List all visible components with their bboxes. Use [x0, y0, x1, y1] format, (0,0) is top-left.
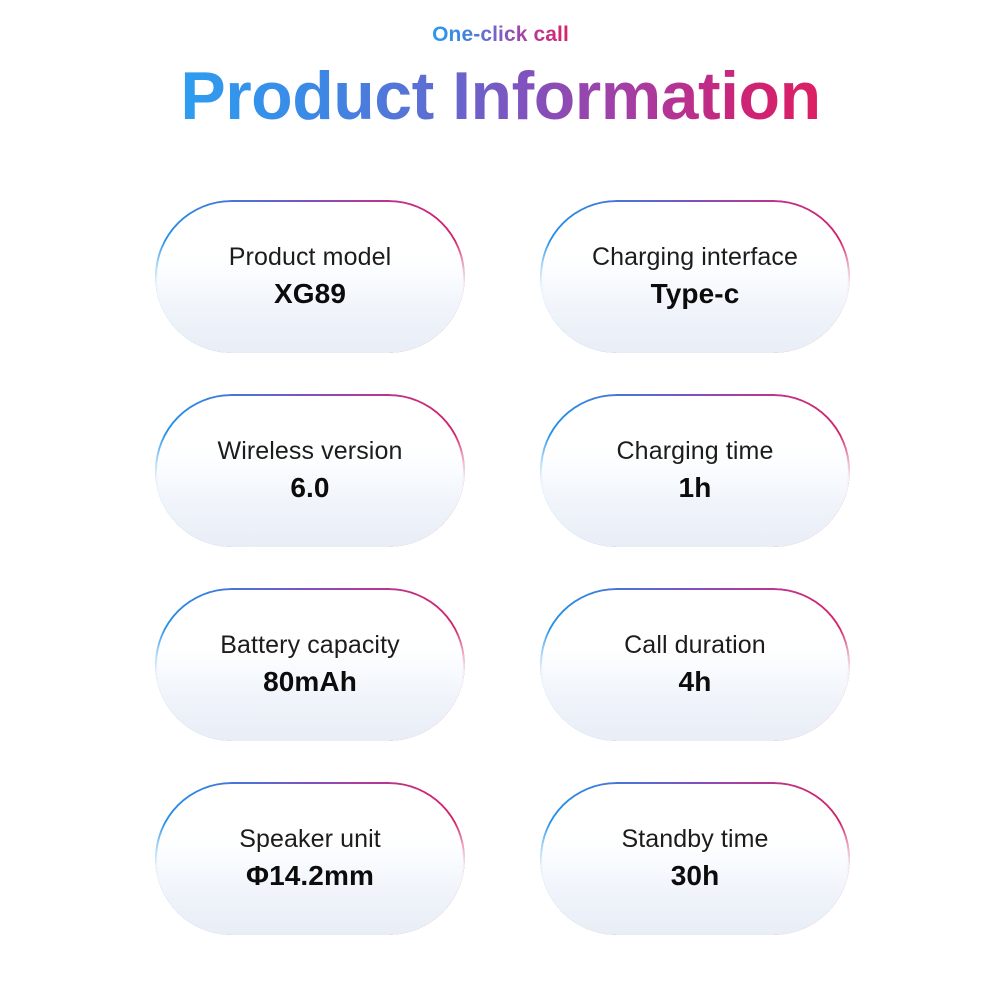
spec-label: Charging interface [592, 242, 798, 273]
spec-value: 1h [617, 470, 774, 505]
spec-card-body: Call duration 4h [606, 630, 784, 699]
spec-value: 80mAh [220, 664, 399, 699]
spec-card-charging-interface: Charging interface Type-c [540, 200, 850, 353]
spec-label: Battery capacity [220, 630, 399, 661]
spec-card-call-duration: Call duration 4h [540, 588, 850, 741]
spec-card-charging-time: Charging time 1h [540, 394, 850, 547]
page-header: One-click call Product Information [0, 0, 1001, 178]
page-title: Product Information [180, 61, 820, 132]
page-subtitle: One-click call [432, 22, 569, 47]
spec-value: Φ14.2mm [239, 858, 381, 893]
spec-label: Product model [229, 242, 392, 273]
spec-card-body: Product model XG89 [211, 242, 410, 311]
spec-card-body: Charging time 1h [599, 436, 792, 505]
spec-value: 6.0 [218, 470, 403, 505]
spec-card-product-model: Product model XG89 [155, 200, 465, 353]
spec-value: 30h [621, 858, 768, 893]
spec-label: Speaker unit [239, 824, 381, 855]
spec-card-body: Standby time 30h [603, 824, 786, 893]
spec-card-body: Battery capacity 80mAh [202, 630, 417, 699]
spec-value: Type-c [592, 276, 798, 311]
spec-label: Wireless version [218, 436, 403, 467]
spec-card-body: Charging interface Type-c [574, 242, 816, 311]
spec-grid: Product model XG89 Charging interface Ty… [155, 200, 850, 935]
spec-card-body: Speaker unit Φ14.2mm [221, 824, 399, 893]
spec-card-battery-capacity: Battery capacity 80mAh [155, 588, 465, 741]
spec-label: Standby time [621, 824, 768, 855]
product-information-page: One-click call Product Information Produ… [0, 0, 1001, 1001]
spec-label: Call duration [624, 630, 766, 661]
spec-card-wireless-version: Wireless version 6.0 [155, 394, 465, 547]
spec-card-speaker-unit: Speaker unit Φ14.2mm [155, 782, 465, 935]
spec-card-body: Wireless version 6.0 [200, 436, 421, 505]
spec-card-standby-time: Standby time 30h [540, 782, 850, 935]
spec-value: XG89 [229, 276, 392, 311]
spec-label: Charging time [617, 436, 774, 467]
spec-value: 4h [624, 664, 766, 699]
